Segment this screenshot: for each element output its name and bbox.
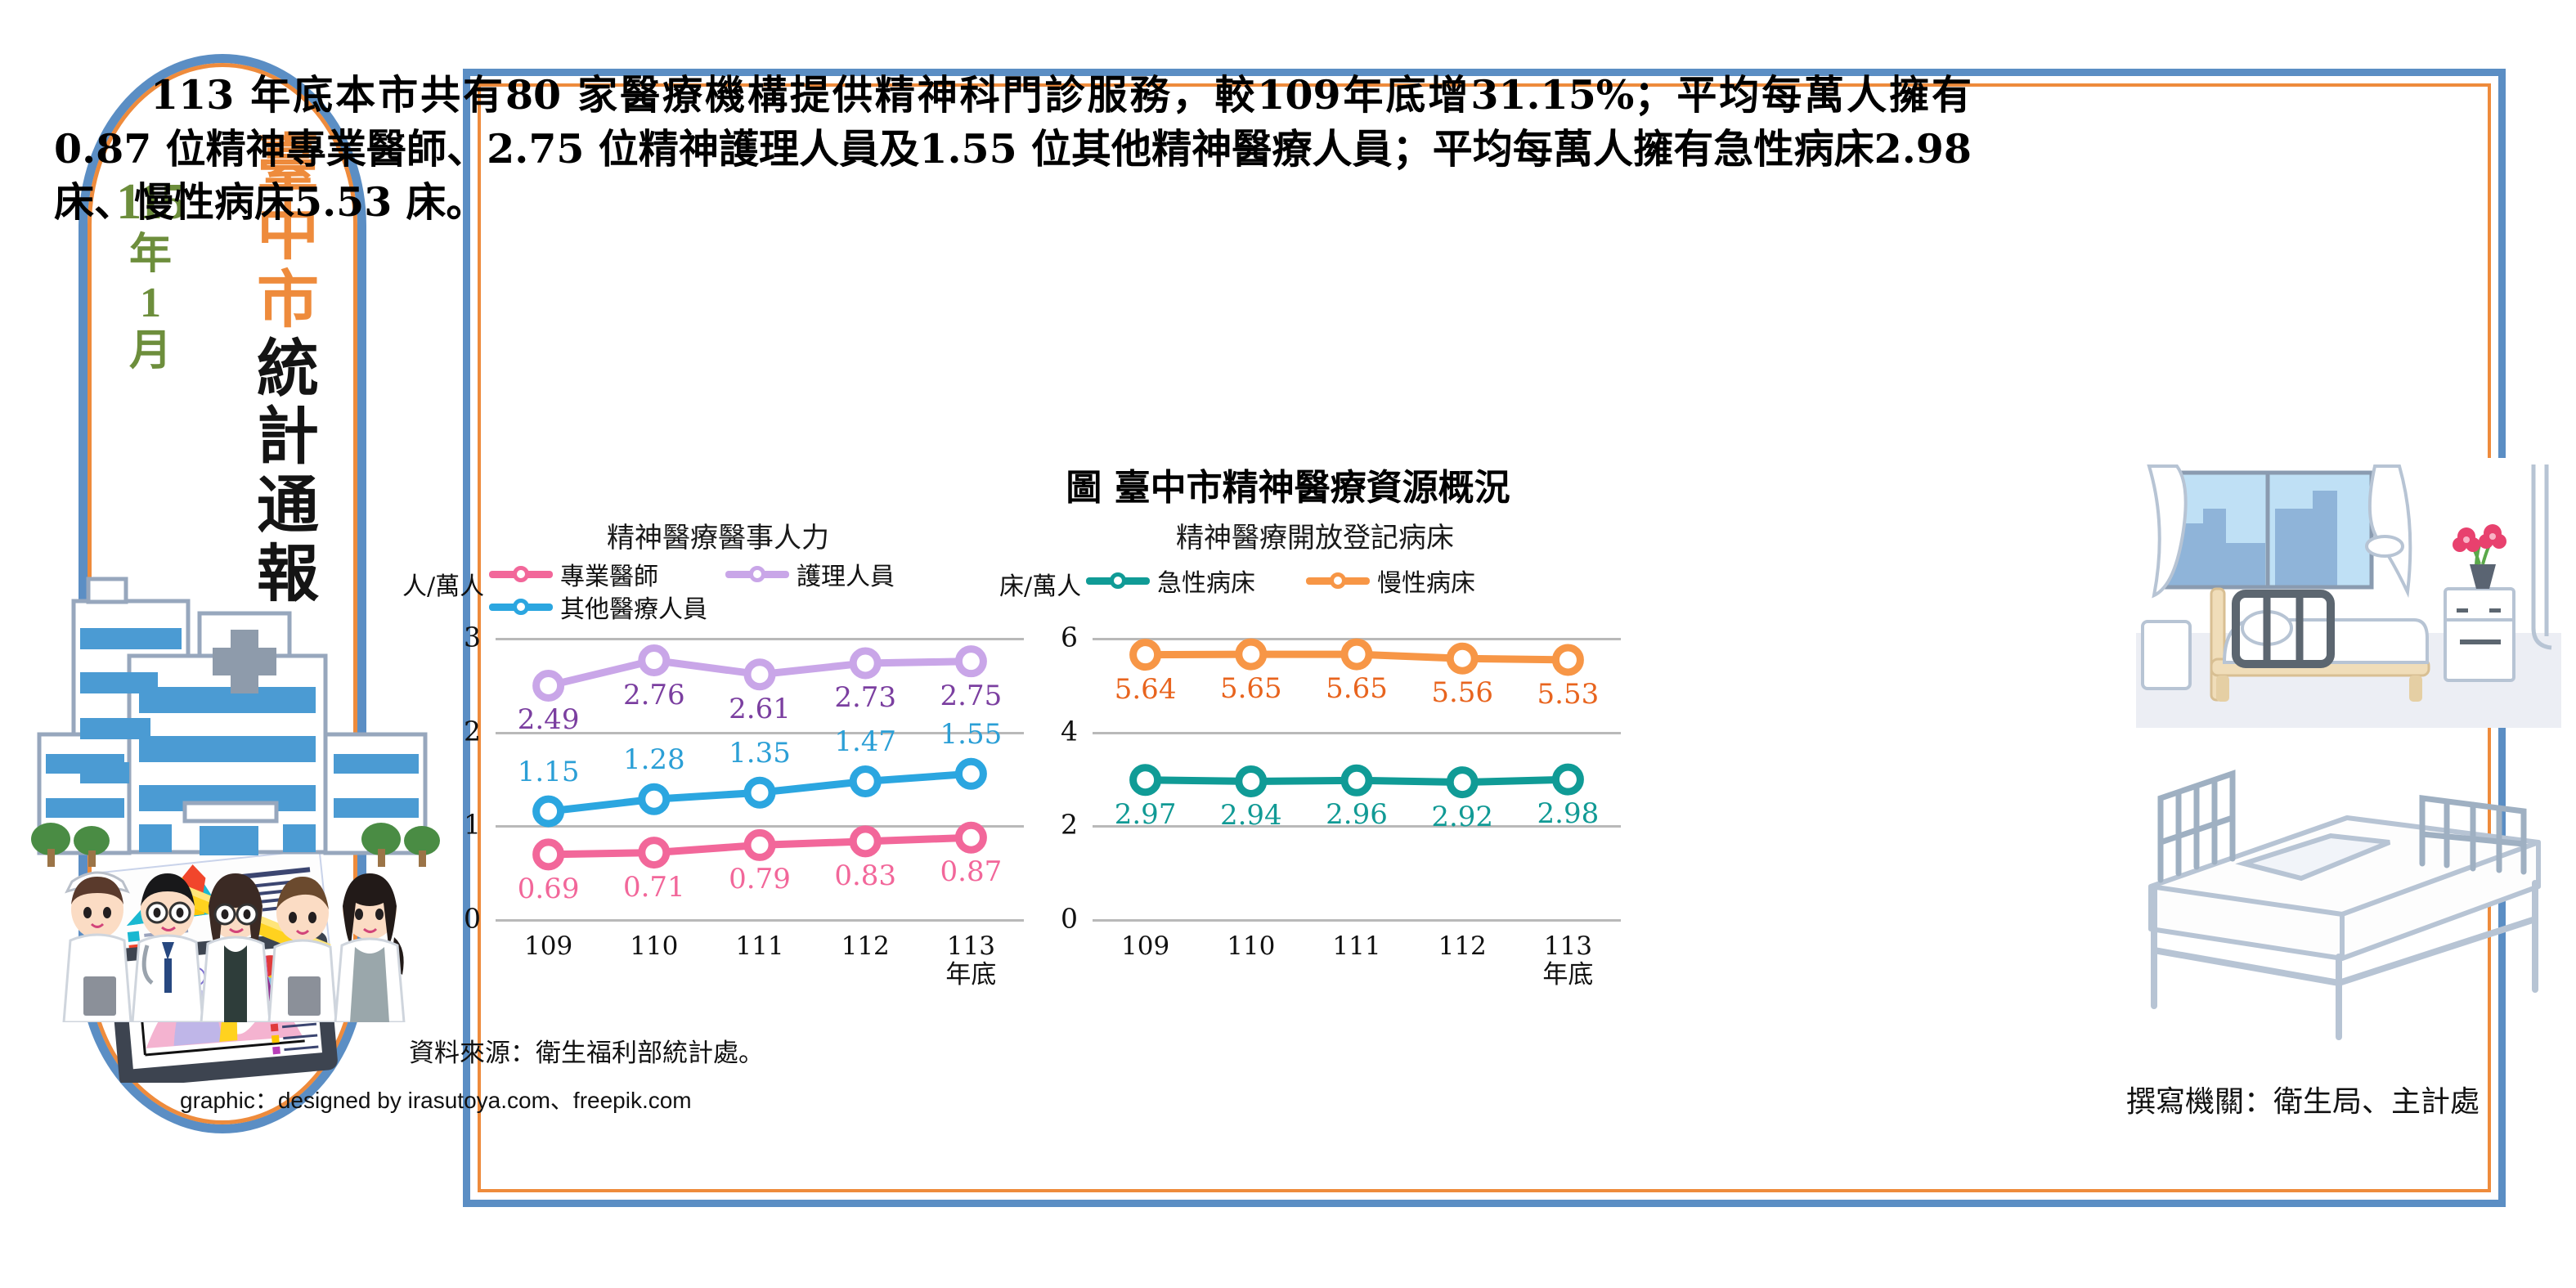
hospital-and-medical-staff-icon [25, 540, 442, 1022]
chart-plot-left: 0123109110111112113年底0.690.710.790.830.8… [496, 638, 1024, 919]
y-axis-tick: 3 [464, 622, 481, 653]
data-label: 2.76 [623, 679, 685, 711]
admin-staff-figure [335, 873, 404, 1022]
cover-title-char-3: 統 [242, 334, 334, 403]
data-label: 5.53 [1537, 678, 1600, 711]
data-point[interactable] [1133, 643, 1158, 667]
legend-marker-0 [1086, 577, 1150, 585]
data-point[interactable] [536, 842, 561, 867]
data-point[interactable] [1239, 642, 1263, 666]
cover-month-char: 月 [106, 330, 195, 373]
data-label: 2.49 [518, 703, 580, 736]
data-point[interactable] [747, 780, 772, 805]
data-label: 2.92 [1431, 801, 1493, 833]
legend-marker-2 [489, 604, 553, 611]
data-label: 0.69 [518, 873, 580, 905]
gridline [1093, 919, 1621, 922]
chart-legend-left: 專業醫師 護理人員 其他醫療人員 [489, 558, 1029, 623]
gridline [496, 919, 1024, 922]
source-note: 資料來源：衛生福利部統計處。 [409, 1032, 764, 1069]
data-point[interactable] [1450, 770, 1474, 795]
chart-subtitle-left: 精神醫療醫事人力 [407, 515, 1029, 555]
lead-paragraph: 113 年底本市共有80 家醫療機構提供精神科門診服務，較109年底增31.15… [54, 69, 1972, 230]
x-axis-tick: 111 [1332, 932, 1380, 961]
data-point[interactable] [1344, 768, 1369, 792]
data-label: 5.56 [1431, 676, 1493, 709]
data-point[interactable] [1555, 767, 1580, 792]
data-label: 0.87 [940, 855, 1003, 888]
data-label: 1.15 [518, 756, 580, 788]
legend-item-2[interactable]: 其他醫療人員 [489, 589, 707, 625]
chart-yaxis-unit-left: 人/萬人 [402, 566, 484, 602]
y-axis-tick: 2 [464, 715, 481, 747]
y-axis-tick: 0 [464, 903, 481, 935]
cover-title-char-2: 市 [242, 266, 334, 334]
x-axis-tick: 109 [524, 932, 572, 961]
legend-label-1: 慢性病床 [1377, 563, 1475, 599]
male-staff-figure [269, 877, 336, 1022]
legend-item-0[interactable]: 專業醫師 [489, 556, 658, 592]
legend-marker-1 [725, 571, 789, 578]
data-label: 2.75 [940, 680, 1003, 712]
data-point[interactable] [1133, 768, 1158, 792]
legend-marker-0 [489, 571, 553, 578]
data-point[interactable] [536, 799, 561, 824]
female-doctor-figure [201, 873, 270, 1022]
data-point[interactable] [1450, 646, 1474, 671]
chart-plot-right: 0246109110111112113年底2.972.942.962.922.9… [1093, 638, 1621, 919]
legend-item-0[interactable]: 急性病床 [1086, 563, 1255, 599]
data-label: 2.94 [1220, 799, 1282, 832]
data-point[interactable] [642, 648, 666, 673]
hospital-bed-icon [2097, 720, 2555, 1047]
y-axis-tick: 4 [1061, 715, 1078, 747]
y-axis-tick: 0 [1061, 903, 1078, 935]
chart-yaxis-unit-right: 床/萬人 [999, 566, 1081, 602]
data-label: 1.55 [940, 718, 1003, 751]
chart-legend-right: 急性病床 慢性病床 [1086, 564, 1626, 597]
data-label: 5.65 [1326, 672, 1388, 705]
y-axis-tick: 1 [464, 809, 481, 841]
data-label: 1.28 [623, 743, 685, 776]
data-label: 2.96 [1326, 798, 1388, 831]
data-point[interactable] [853, 769, 877, 793]
data-label: 0.71 [623, 871, 685, 904]
data-point[interactable] [958, 649, 983, 674]
data-point[interactable] [1239, 769, 1263, 793]
data-point[interactable] [747, 662, 772, 687]
doctor-figure [132, 873, 203, 1022]
data-point[interactable] [536, 673, 561, 698]
nightstand-icon [2445, 589, 2514, 680]
data-label: 0.79 [729, 863, 791, 895]
legend-label-0: 專業醫師 [560, 556, 658, 592]
x-axis-tick: 112 [841, 932, 890, 961]
data-label: 5.65 [1220, 672, 1282, 705]
x-axis-tick: 110 [630, 932, 678, 961]
nurse-figure [64, 873, 131, 1022]
data-point[interactable] [853, 651, 877, 675]
x-axis-tick: 110 [1227, 932, 1275, 961]
x-axis-tick: 112 [1438, 932, 1487, 961]
data-label: 1.47 [834, 725, 896, 758]
data-label: 2.73 [834, 681, 896, 714]
legend-item-1[interactable]: 護理人員 [725, 556, 895, 592]
data-label: 2.61 [729, 693, 791, 725]
y-axis-tick: 2 [1061, 809, 1078, 841]
data-point[interactable] [642, 787, 666, 811]
legend-item-1[interactable]: 慢性病床 [1306, 563, 1475, 599]
y-axis-tick: 6 [1061, 622, 1078, 653]
legend-label-2: 其他醫療人員 [560, 589, 707, 625]
x-axis-tick-suffix: 年底 [945, 960, 996, 990]
cover-month: 1 [106, 281, 195, 325]
data-point[interactable] [958, 761, 983, 786]
x-axis-tick-suffix: 年底 [1542, 960, 1593, 990]
legend-label-1: 護理人員 [797, 556, 895, 592]
data-point[interactable] [747, 832, 772, 857]
cover-year-char: 年 [106, 233, 195, 276]
data-point[interactable] [958, 825, 983, 850]
author-note: 撰寫機關：衛生局、主計處 [2126, 1078, 2480, 1120]
data-point[interactable] [1555, 648, 1580, 672]
data-label: 2.97 [1115, 798, 1177, 831]
legend-marker-1 [1306, 577, 1370, 585]
graphic-credit: graphic：designed by irasutoya.com、freepi… [180, 1083, 692, 1115]
data-point[interactable] [853, 829, 877, 854]
hospital-room-icon [2136, 458, 2561, 728]
chart-medical-personnel: 精神醫療醫事人力 人/萬人 專業醫師 護理人員 其他醫療人員 012310911… [407, 515, 1029, 1006]
legend-label-0: 急性病床 [1157, 563, 1255, 599]
data-label: 1.35 [729, 737, 791, 770]
x-axis-tick: 109 [1121, 932, 1169, 961]
chart-registered-beds: 精神醫療開放登記病床 床/萬人 急性病床 慢性病床 02461091101111… [1004, 515, 1626, 1006]
data-point[interactable] [642, 841, 666, 865]
data-point[interactable] [1344, 642, 1369, 666]
x-axis-tick: 111 [735, 932, 783, 961]
data-label: 5.64 [1115, 673, 1177, 706]
chart-subtitle-right: 精神醫療開放登記病床 [1004, 515, 1626, 555]
x-axis-tick: 113年底 [1542, 932, 1593, 989]
data-label: 0.83 [834, 859, 896, 892]
x-axis-tick: 113年底 [945, 932, 996, 989]
data-label: 2.98 [1537, 797, 1600, 830]
